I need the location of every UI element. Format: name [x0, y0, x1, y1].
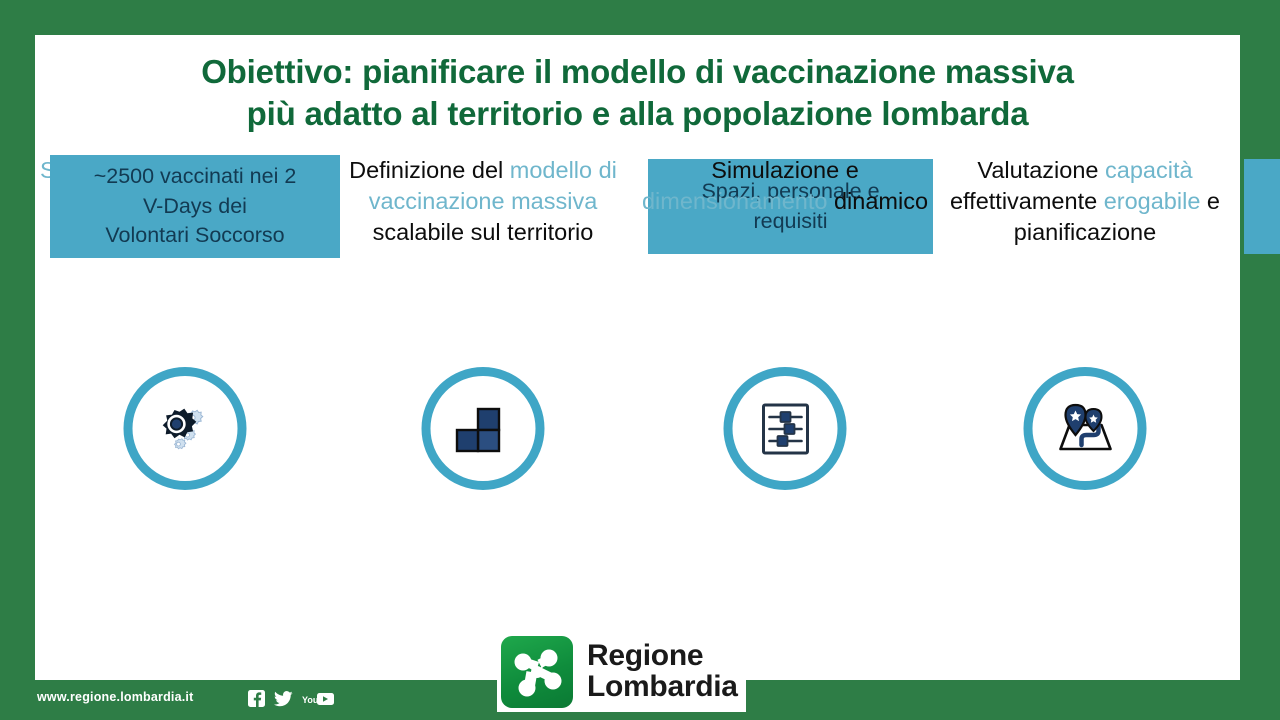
- column-3-segment-1: dimensionamento: [642, 188, 834, 214]
- map-pins-icon: [1053, 401, 1117, 457]
- columns-container: Sperimentazione sul campo col Policlinic…: [35, 155, 1240, 550]
- title-line-1: Obiettivo: pianificare il modello di vac…: [55, 51, 1220, 93]
- icon-circle-blocks: [422, 367, 545, 490]
- svg-text:You: You: [302, 695, 318, 705]
- stat-box-1-line-1: V-Days dei: [94, 192, 297, 222]
- column-2-segment-2: scalabile sul territorio: [373, 219, 594, 245]
- column-valutazione: Valutazione capacità effettivamente erog…: [940, 155, 1230, 550]
- regione-lombardia-logo: Regione Lombardia: [497, 632, 746, 712]
- column-2-segment-0: Definizione del: [349, 157, 510, 183]
- facebook-icon[interactable]: [248, 690, 265, 707]
- content-panel: Obiettivo: pianificare il modello di vac…: [35, 35, 1240, 680]
- twitter-icon[interactable]: [274, 691, 293, 707]
- logo-line-2: Lombardia: [587, 672, 738, 703]
- footer-website-url[interactable]: www.regione.lombardia.it: [37, 690, 193, 704]
- icon-circle-sliders: [724, 367, 847, 490]
- stat-box-1-line-2: Volontari Soccorso: [94, 221, 297, 251]
- column-3-segment-2: dinamico: [834, 188, 928, 214]
- column-4-segment-3: erogabile: [1104, 188, 1207, 214]
- sliders-icon: [756, 400, 814, 458]
- stat-box-1: ~2500 vaccinati nei 2 V-Days dei Volonta…: [50, 155, 340, 258]
- page-title: Obiettivo: pianificare il modello di vac…: [55, 51, 1220, 135]
- title-line-2: più adatto al territorio e alla popolazi…: [55, 93, 1220, 135]
- column-4-segment-2: effettivamente: [950, 188, 1104, 214]
- column-sperimentazione: Sperimentazione sul campo col Policlinic…: [40, 155, 330, 550]
- rosa-camuna-icon: [501, 636, 573, 708]
- logo-line-1: Regione: [587, 641, 738, 672]
- column-3-text: Simulazione e dimensionamento dinamico: [640, 155, 930, 217]
- column-4-segment-0: Valutazione: [977, 157, 1105, 183]
- logo-wordmark: Regione Lombardia: [587, 641, 738, 702]
- column-4-text: Valutazione capacità effettivamente erog…: [940, 155, 1230, 247]
- social-links: You: [248, 690, 334, 707]
- slide-root: Obiettivo: pianificare il modello di vac…: [0, 0, 1280, 720]
- column-modello: Definizione del modello di vaccinazione …: [338, 155, 628, 550]
- column-4-segment-1: capacità: [1105, 157, 1193, 183]
- stat-box-3: Unità massiva da +4000 persone/gg: [1244, 159, 1280, 254]
- column-3-segment-0: Simulazione e: [711, 157, 859, 183]
- gears-icon: [153, 397, 217, 461]
- column-simulazione: Simulazione e dimensionamento dinamico: [640, 155, 930, 550]
- column-2-text: Definizione del modello di vaccinazione …: [338, 155, 628, 247]
- icon-circle-gears: [124, 367, 247, 490]
- icon-circle-map-pins: [1024, 367, 1147, 490]
- youtube-icon[interactable]: You: [302, 692, 334, 706]
- stat-box-1-line-0: ~2500 vaccinati nei 2: [94, 162, 297, 192]
- blocks-icon: [453, 399, 513, 459]
